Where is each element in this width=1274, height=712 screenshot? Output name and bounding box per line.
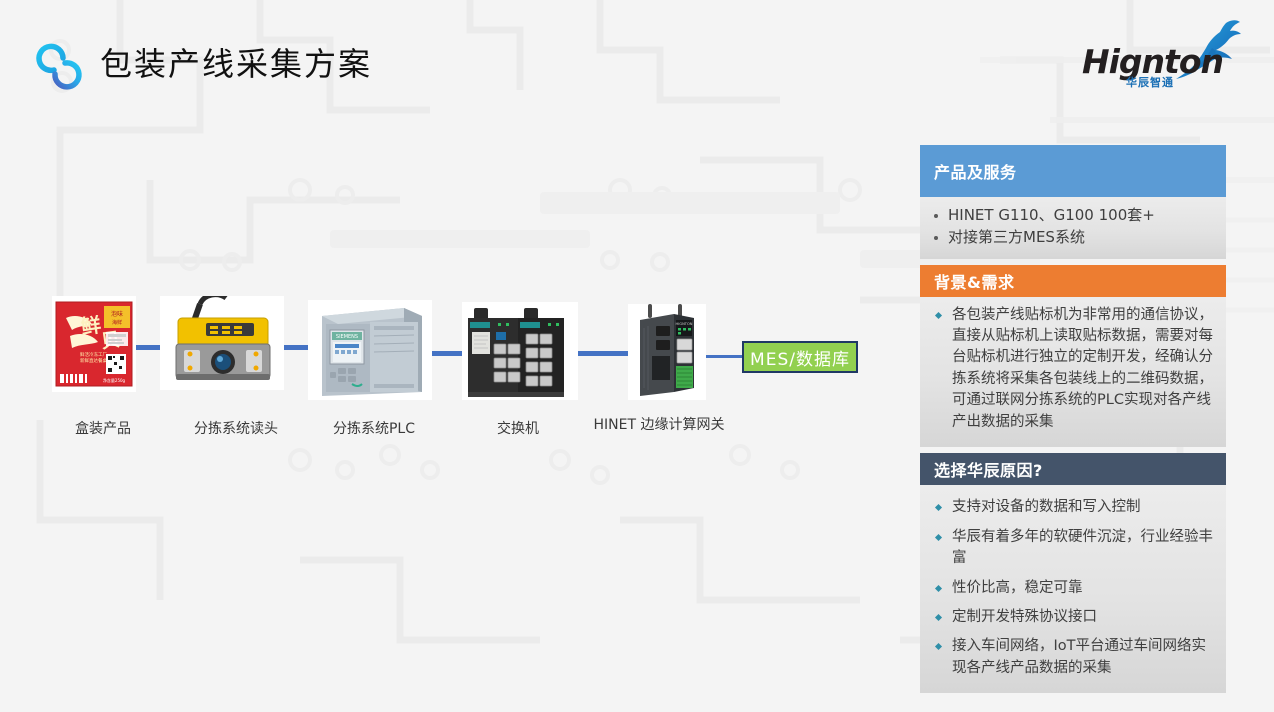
background-requirements-list: 各包装产线贴标机为非常用的通信协议，直接从贴标机上读取贴标数据，需要对每台贴标机… (932, 305, 1214, 434)
link-plc-to-switch (432, 351, 464, 356)
link-switch-to-gateway (578, 351, 630, 356)
mes-database-endpoint[interactable]: MES/数据库 (742, 341, 858, 373)
list-item: 接入车间网络，IoT平台通过车间网络实现各产线产品数据的采集 (932, 636, 1214, 679)
siemens-plc-photo: SIEMENS (308, 300, 432, 400)
svg-text:净含量250g: 净含量250g (103, 377, 126, 383)
architecture-diagram: 泡味 海鲜 鲜 贝 鲜活冷冻工厂 新鲜直达餐桌 (0, 0, 920, 712)
panel-header-products-services: 产品及服务 (920, 145, 1226, 197)
list-item: 各包装产线贴标机为非常用的通信协议，直接从贴标机上读取贴标数据，需要对每台贴标机… (932, 305, 1214, 434)
svg-text:新鲜直达餐桌: 新鲜直达餐桌 (80, 357, 107, 364)
list-item: 支持对设备的数据和写入控制 (932, 497, 1214, 518)
panel-header-background-requirements: 背景&需求 (920, 265, 1226, 297)
svg-text:HIGNTON: HIGNTON (676, 322, 693, 326)
list-item: 性价比高，稳定可靠 (932, 578, 1214, 599)
svg-text:SIEMENS: SIEMENS (336, 334, 358, 340)
panel-body-why-hignton: 支持对设备的数据和写入控制 华辰有着多年的软硬件沉淀，行业经验丰富 性价比高，稳… (920, 485, 1226, 693)
slide-canvas: 包装产线采集方案 Hignton 华辰智通 (0, 0, 1274, 712)
boxed-product-photo: 泡味 海鲜 鲜 贝 鲜活冷冻工厂 新鲜直达餐桌 (52, 296, 136, 392)
panel-why-hignton: 选择华辰原因? 支持对设备的数据和写入控制 华辰有着多年的软硬件沉淀，行业经验丰… (920, 453, 1226, 693)
why-hignton-list: 支持对设备的数据和写入控制 华辰有着多年的软硬件沉淀，行业经验丰富 性价比高，稳… (932, 497, 1214, 679)
diagram-node-label-plc: 分拣系统PLC (292, 418, 456, 438)
panel-body-background-requirements: 各包装产线贴标机为非常用的通信协议，直接从贴标机上读取贴标数据，需要对每台贴标机… (920, 297, 1226, 448)
link-gateway-to-mes (704, 355, 746, 358)
products-services-list: HINET G110、G100 100套+ 对接第三方MES系统 (932, 205, 1214, 249)
ethernet-switch-photo (462, 302, 578, 400)
list-item: 对接第三方MES系统 (932, 227, 1214, 249)
hinet-gateway-photo: HIGNTON (628, 304, 706, 400)
svg-text:鲜: 鲜 (79, 312, 102, 339)
svg-text:鲜活冷冻工厂: 鲜活冷冻工厂 (80, 351, 107, 358)
panel-products-services: 产品及服务 HINET G110、G100 100套+ 对接第三方MES系统 (920, 145, 1226, 259)
panel-background-requirements: 背景&需求 各包装产线贴标机为非常用的通信协议，直接从贴标机上读取贴标数据，需要… (920, 265, 1226, 448)
info-panel-stack: 产品及服务 HINET G110、G100 100套+ 对接第三方MES系统 背… (920, 145, 1226, 693)
diagram-node-label-gateway: HINET 边缘计算网关 (584, 414, 734, 434)
barcode-reader-photo (160, 296, 284, 390)
company-logo: Hignton 华辰智通 (1082, 22, 1242, 94)
list-item: 华辰有着多年的软硬件沉淀，行业经验丰富 (932, 527, 1214, 570)
svg-text:泡味: 泡味 (111, 310, 123, 318)
list-item: 定制开发特殊协议接口 (932, 607, 1214, 628)
diagram-node-label-switch: 交换机 (460, 418, 576, 438)
svg-text:海鲜: 海鲜 (112, 319, 122, 326)
company-subtitle: 华辰智通 (1126, 74, 1174, 90)
mes-database-label: MES/数据库 (750, 345, 850, 370)
panel-body-products-services: HINET G110、G100 100套+ 对接第三方MES系统 (920, 197, 1226, 259)
list-item: HINET G110、G100 100套+ (932, 205, 1214, 227)
panel-header-why-hignton: 选择华辰原因? (920, 453, 1226, 485)
